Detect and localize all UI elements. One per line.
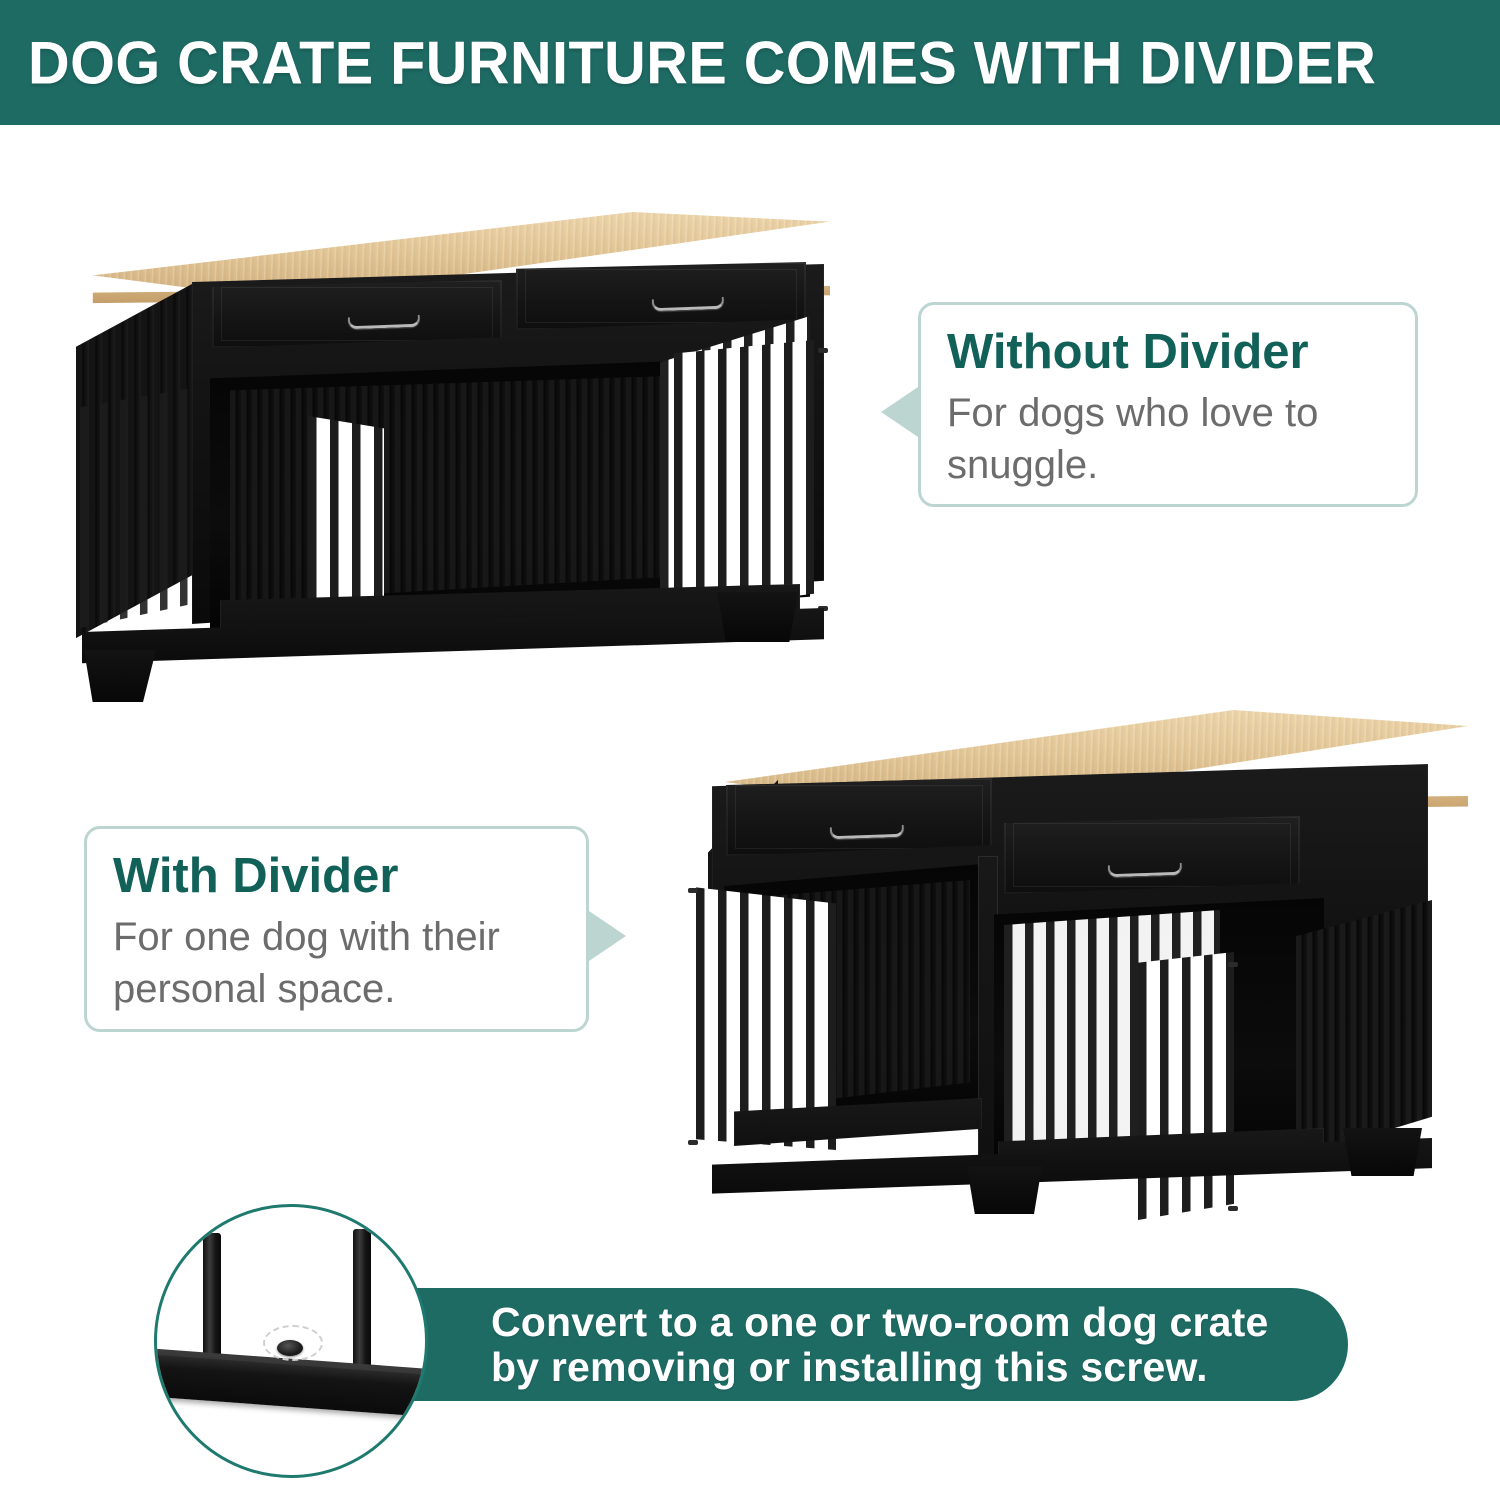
drawer-right[interactable] <box>1004 816 1300 894</box>
divider-bar-left <box>203 1233 221 1361</box>
crate-gate-door[interactable] <box>674 340 814 610</box>
crate-side-bars-left <box>80 388 192 628</box>
infographic-canvas: DOG CRATE FURNITURE COMES WITH DIVIDER <box>0 0 1500 1493</box>
drawer-handle-left[interactable] <box>830 825 904 840</box>
header-banner: DOG CRATE FURNITURE COMES WITH DIVIDER <box>0 0 1500 125</box>
crate-right-end-slats <box>1296 900 1432 1158</box>
drawer-left[interactable] <box>212 280 502 348</box>
bottom-instruction-text: Convert to a one or two-room dog crate b… <box>491 1299 1269 1389</box>
arrow-right-icon <box>586 909 626 963</box>
gate-left-hinge-top <box>688 888 698 893</box>
callout-without-divider: Without Divider For dogs who love to snu… <box>918 302 1418 507</box>
callout-with-divider: With Divider For one dog with their pers… <box>84 826 589 1032</box>
arrow-left-icon <box>881 385 921 439</box>
product-image-without-divider <box>60 188 870 748</box>
page-title: DOG CRATE FURNITURE COMES WITH DIVIDER <box>28 28 1376 97</box>
divider-bar-right <box>353 1229 371 1369</box>
drawer-panel-inset <box>525 269 797 323</box>
gate-right-hinge-bottom <box>1228 1206 1238 1211</box>
callout-body: For dogs who love to snuggle. <box>947 388 1389 490</box>
callout-title: With Divider <box>113 851 560 902</box>
cabinet-foot-right <box>1338 1128 1422 1176</box>
drawer-panel-inset <box>1013 823 1291 887</box>
crate-inner-gate-door[interactable] <box>308 416 384 622</box>
gate-left-hinge-bottom <box>688 1140 698 1145</box>
callout-title: Without Divider <box>947 327 1389 378</box>
cabinet-foot-right <box>712 592 798 642</box>
gate-right-hinge-top <box>1228 962 1238 967</box>
cabinet-foot-left <box>962 1166 1042 1214</box>
gate-hinge-top <box>818 348 828 353</box>
drawer-handle-left[interactable] <box>348 315 420 330</box>
crate-gate-door-right[interactable] <box>1138 952 1234 1220</box>
product-image-with-divider <box>672 700 1482 1260</box>
drawer-panel-inset <box>221 287 493 341</box>
drawer-left[interactable] <box>726 778 992 856</box>
drawer-right[interactable] <box>516 262 806 330</box>
drawer-panel-inset <box>735 785 983 849</box>
drawer-handle-right[interactable] <box>652 297 724 312</box>
callout-body: For one dog with their personal space. <box>113 912 560 1014</box>
screw-detail-inset <box>154 1204 428 1478</box>
cabinet-foot-left <box>84 650 156 702</box>
screw-icon <box>277 1340 303 1356</box>
drawer-handle-right[interactable] <box>1108 863 1182 878</box>
